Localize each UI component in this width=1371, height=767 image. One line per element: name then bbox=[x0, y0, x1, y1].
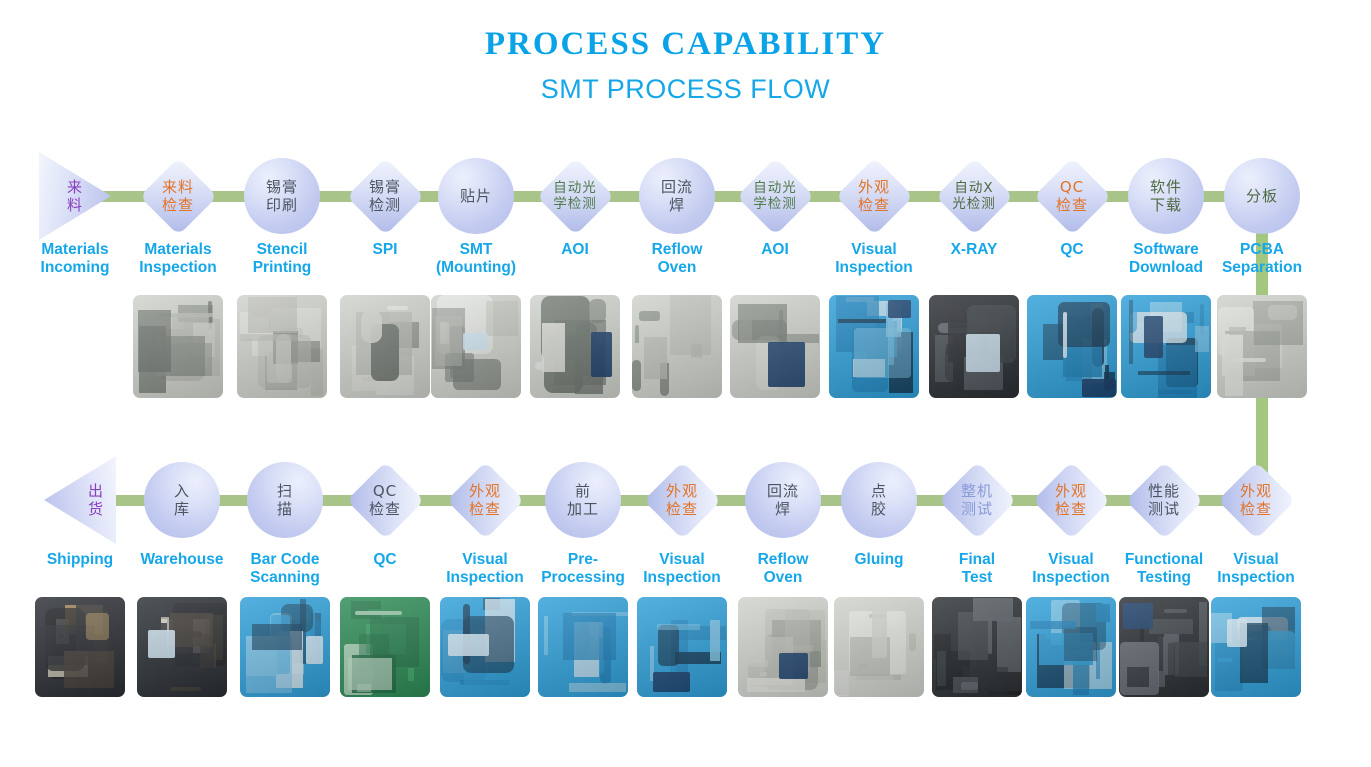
photo-warehouse-stacks bbox=[137, 597, 227, 697]
node-shape-circle bbox=[1224, 158, 1300, 234]
node-label-en-pcba-separation: PCBA Separation bbox=[1182, 241, 1342, 277]
process-node-reflow-oven[interactable]: 回流 焊 bbox=[745, 462, 821, 538]
process-node-materials-inspection[interactable]: 来料 检查 bbox=[151, 169, 206, 224]
photo-visual-inspection-hands bbox=[1026, 597, 1116, 697]
process-node-qc[interactable]: QC 检查 bbox=[1045, 169, 1100, 224]
node-shape-circle bbox=[745, 462, 821, 538]
photo-gluing-machine bbox=[834, 597, 924, 697]
node-shape-diamond bbox=[835, 157, 913, 235]
process-node-stencil-printing[interactable]: 锡膏 印刷 bbox=[244, 158, 320, 234]
process-node-software-download[interactable]: 软件 下载 bbox=[1128, 158, 1204, 234]
node-shape-diamond bbox=[938, 461, 1016, 539]
photo-qc-operator bbox=[1027, 295, 1117, 398]
node-shape-circle bbox=[639, 158, 715, 234]
photo-stencil-printer bbox=[237, 295, 327, 398]
photo-smt-mounter bbox=[431, 295, 521, 398]
process-node-visual-inspection[interactable]: 外观 检查 bbox=[1044, 473, 1099, 528]
process-node-aoi[interactable]: 自动光 学检测 bbox=[748, 169, 803, 224]
photo-pre-processing-operator bbox=[538, 597, 628, 697]
node-shape-circle bbox=[1128, 158, 1204, 234]
photo-visual-inspection-worker bbox=[637, 597, 727, 697]
node-shape-diamond bbox=[1217, 461, 1295, 539]
photo-functional-testing-rack bbox=[1119, 597, 1209, 697]
process-node-pcba-separation[interactable]: 分板 bbox=[1224, 158, 1300, 234]
process-node-shipping[interactable]: 出 货 bbox=[44, 456, 116, 544]
process-node-materials-incoming[interactable]: 来 料 bbox=[39, 152, 111, 240]
node-shape-circle bbox=[841, 462, 917, 538]
photo-xray-machine bbox=[929, 295, 1019, 398]
node-shape-diamond bbox=[643, 461, 721, 539]
node-shape-triangle bbox=[39, 152, 111, 240]
photo-barcode-scanning-operator bbox=[240, 597, 330, 697]
photo-visual-inspection-tray bbox=[440, 597, 530, 697]
node-shape-diamond bbox=[1125, 461, 1203, 539]
node-shape-circle bbox=[545, 462, 621, 538]
process-node-visual-inspection[interactable]: 外观 检查 bbox=[458, 473, 513, 528]
node-shape-diamond bbox=[346, 461, 424, 539]
process-node-visual-inspection[interactable]: 外观 检查 bbox=[655, 473, 710, 528]
process-node-visual-inspection[interactable]: 外观 检查 bbox=[847, 169, 902, 224]
process-node-warehouse[interactable]: 入 库 bbox=[144, 462, 220, 538]
page-title: PROCESS CAPABILITY bbox=[0, 26, 1371, 63]
process-node-qc[interactable]: QC 检查 bbox=[358, 473, 413, 528]
photo-visual-inspection-bench bbox=[1211, 597, 1301, 697]
photo-reflow-oven bbox=[632, 295, 722, 398]
node-shape-diamond bbox=[1032, 461, 1110, 539]
photo-materials-inspection-tester bbox=[133, 295, 223, 398]
photo-qc-bench bbox=[340, 597, 430, 697]
node-label-en-visual-inspection: Visual Inspection bbox=[1176, 551, 1336, 587]
node-shape-circle bbox=[247, 462, 323, 538]
node-shape-diamond bbox=[446, 461, 524, 539]
photo-visual-inspection-operator bbox=[829, 295, 919, 398]
process-node-pre-processing[interactable]: 前 加工 bbox=[545, 462, 621, 538]
node-shape-diamond bbox=[346, 157, 424, 235]
process-node-spi[interactable]: 锡膏 检测 bbox=[358, 169, 413, 224]
process-node-visual-inspection[interactable]: 外观 检查 bbox=[1229, 473, 1284, 528]
process-node-final-test[interactable]: 整机 测试 bbox=[950, 473, 1005, 528]
node-shape-diamond bbox=[536, 157, 614, 235]
node-shape-circle bbox=[438, 158, 514, 234]
photo-aoi-machine bbox=[530, 295, 620, 398]
process-flow-diagram: PROCESS CAPABILITY SMT PROCESS FLOW 来 料M… bbox=[0, 0, 1371, 767]
node-shape-circle bbox=[244, 158, 320, 234]
node-shape-diamond bbox=[736, 157, 814, 235]
process-node-bar-code-scanning[interactable]: 扫 描 bbox=[247, 462, 323, 538]
photo-software-download-line bbox=[1121, 295, 1211, 398]
page-subtitle: SMT PROCESS FLOW bbox=[0, 74, 1371, 105]
node-shape-diamond bbox=[935, 157, 1013, 235]
process-node-x-ray[interactable]: 自动X 光检测 bbox=[947, 169, 1002, 224]
photo-final-test-rack bbox=[932, 597, 1022, 697]
node-shape-diamond bbox=[139, 157, 217, 235]
photo-spi-machine bbox=[340, 295, 430, 398]
photo-pcba-separation-machine bbox=[1217, 295, 1307, 398]
process-node-aoi[interactable]: 自动光 学检测 bbox=[548, 169, 603, 224]
photo-reflow-oven-line bbox=[738, 597, 828, 697]
node-shape-circle bbox=[144, 462, 220, 538]
node-shape-triangle bbox=[44, 456, 116, 544]
photo-aoi-second bbox=[730, 295, 820, 398]
process-node-gluing[interactable]: 点 胶 bbox=[841, 462, 917, 538]
node-shape-diamond bbox=[1033, 157, 1111, 235]
process-node-functional-testing[interactable]: 性能 测试 bbox=[1137, 473, 1192, 528]
process-node-smt-mounting[interactable]: 贴片 bbox=[438, 158, 514, 234]
process-node-reflow-oven[interactable]: 回流 焊 bbox=[639, 158, 715, 234]
photo-shipping-pallet bbox=[35, 597, 125, 697]
